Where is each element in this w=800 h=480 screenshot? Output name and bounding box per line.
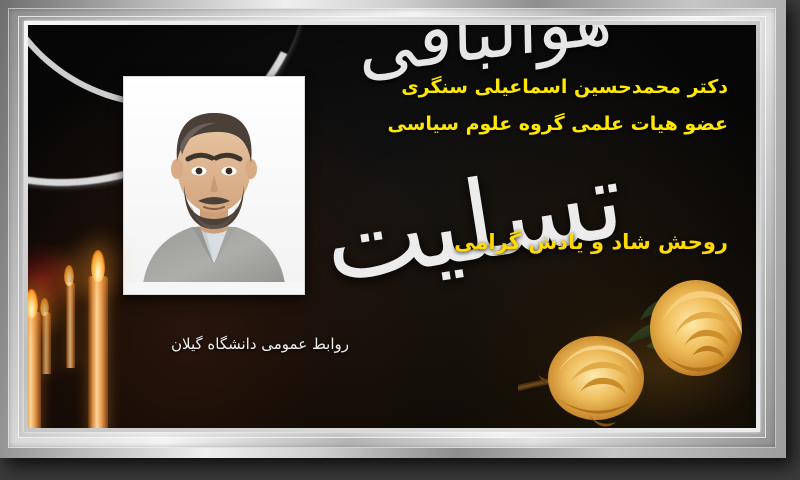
- portrait-photo: [124, 77, 304, 294]
- memorial-poster: هوالباقی تسلیت: [0, 0, 800, 480]
- rose-lower-icon: [518, 322, 668, 428]
- candle-flame-icon: [64, 265, 74, 286]
- picture-frame-outer: هوالباقی تسلیت: [0, 0, 786, 458]
- candle-far-small: [66, 282, 75, 368]
- candle-flame-icon: [40, 298, 49, 316]
- deceased-name: دکتر محمدحسین اسماعیلی سنگری: [328, 69, 728, 106]
- candle-mid-small: [42, 312, 51, 374]
- candle-front-left: [28, 312, 41, 428]
- attribution-text: روابط عمومی دانشگاه گیلان: [110, 335, 410, 353]
- candle-tall-right: [88, 276, 108, 428]
- roses-group: [500, 244, 756, 428]
- memorial-canvas: هوالباقی تسلیت: [28, 25, 756, 428]
- candle-flame-icon: [91, 250, 105, 282]
- portrait-illustration-icon: [124, 77, 304, 294]
- deceased-text-block: دکتر محمدحسین اسماعیلی سنگری عضو هیات عل…: [328, 69, 728, 143]
- deceased-role: عضو هیات علمی گروه علوم سیاسی: [328, 106, 728, 143]
- candles-group: [28, 224, 132, 428]
